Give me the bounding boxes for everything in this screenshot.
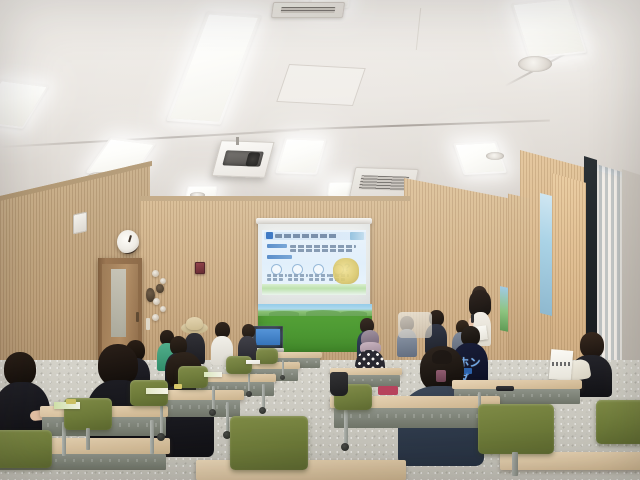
covered-item: [398, 312, 432, 338]
bag-item: [378, 386, 398, 395]
caster-wheel: [246, 391, 252, 397]
wall-decoration: [152, 270, 159, 277]
table-item: [174, 384, 182, 389]
table-leg: [282, 360, 284, 376]
wall-decoration: [160, 278, 166, 284]
projector-mount: [236, 137, 239, 145]
door-handle[interactable]: [136, 312, 139, 322]
wall-decoration: [146, 318, 150, 330]
chair[interactable]: [178, 366, 208, 388]
fire-alarm-box: [195, 262, 205, 274]
wall-decoration: [153, 298, 160, 305]
slide-icon-caption: [309, 278, 325, 281]
wall-trim: [140, 196, 410, 201]
slide-body-line: [290, 249, 352, 252]
chair-post: [86, 428, 90, 450]
slide-icon: [292, 264, 303, 275]
lecture-room-photo: ?: [0, 0, 640, 480]
table-leg: [160, 404, 163, 434]
chair[interactable]: [0, 430, 52, 468]
wall-decoration: [160, 306, 166, 312]
ceiling-access-hatch: [276, 64, 366, 106]
downlight: [518, 56, 552, 72]
table: [500, 452, 640, 470]
chair[interactable]: [230, 416, 308, 470]
caster-wheel: [280, 375, 285, 380]
wall-speaker: [73, 212, 87, 235]
slide-tag: [267, 244, 287, 248]
caster-wheel: [209, 409, 216, 416]
slide: ?: [262, 230, 366, 296]
slide-icon-caption: [267, 278, 283, 281]
slide-body-line: [290, 245, 356, 248]
table-leg: [248, 372, 250, 392]
phone: [496, 386, 514, 391]
slide-ground: [262, 284, 366, 295]
slide-icon-caption: [288, 278, 304, 281]
slide-icon-caption: [267, 274, 287, 277]
ceiling-projector: [211, 140, 274, 178]
wall-far-right: [622, 169, 640, 385]
slide-header-text: [275, 234, 338, 238]
wall-clock: [117, 230, 139, 254]
slide-icon: [271, 264, 282, 275]
slide-icon: [313, 264, 324, 275]
slide-tag: [267, 255, 292, 259]
table-item-handout: [246, 360, 260, 364]
hair-bun: [432, 350, 452, 364]
table-leg: [212, 386, 215, 410]
table-item-handout: [146, 388, 168, 394]
projection-screen: ?: [258, 224, 370, 304]
slide-icon-caption: [288, 274, 308, 277]
wall-column: [508, 194, 530, 379]
table-leg: [344, 410, 348, 444]
board-scenic-border: [258, 304, 372, 316]
slide-mascot-icon: [333, 258, 359, 284]
chair-post: [512, 452, 518, 476]
table-leg: [226, 402, 229, 432]
slide-icon-caption: [309, 274, 329, 277]
table-item: [66, 399, 76, 404]
chair[interactable]: [596, 400, 640, 444]
table-leg: [262, 384, 265, 408]
slide-header-badge: [266, 232, 273, 239]
caster-wheel: [341, 443, 349, 451]
wall-decoration: [152, 314, 159, 321]
caster-wheel: [157, 433, 165, 441]
chair[interactable]: [478, 404, 554, 454]
chair[interactable]: [226, 356, 252, 374]
table: [452, 380, 582, 389]
wall-decoration: [156, 284, 164, 293]
downlight: [486, 152, 504, 160]
ceiling-air-vent: [271, 2, 345, 18]
drink-bottle: [436, 370, 446, 382]
ceiling-seam-detail: [416, 8, 441, 50]
caster-wheel: [259, 407, 266, 414]
slide-logo: [350, 232, 364, 240]
handbag: [330, 372, 348, 396]
table-apron: [334, 408, 498, 428]
handout-text: [552, 362, 570, 366]
table-leg: [150, 420, 154, 454]
table-item-handout: [204, 372, 222, 377]
